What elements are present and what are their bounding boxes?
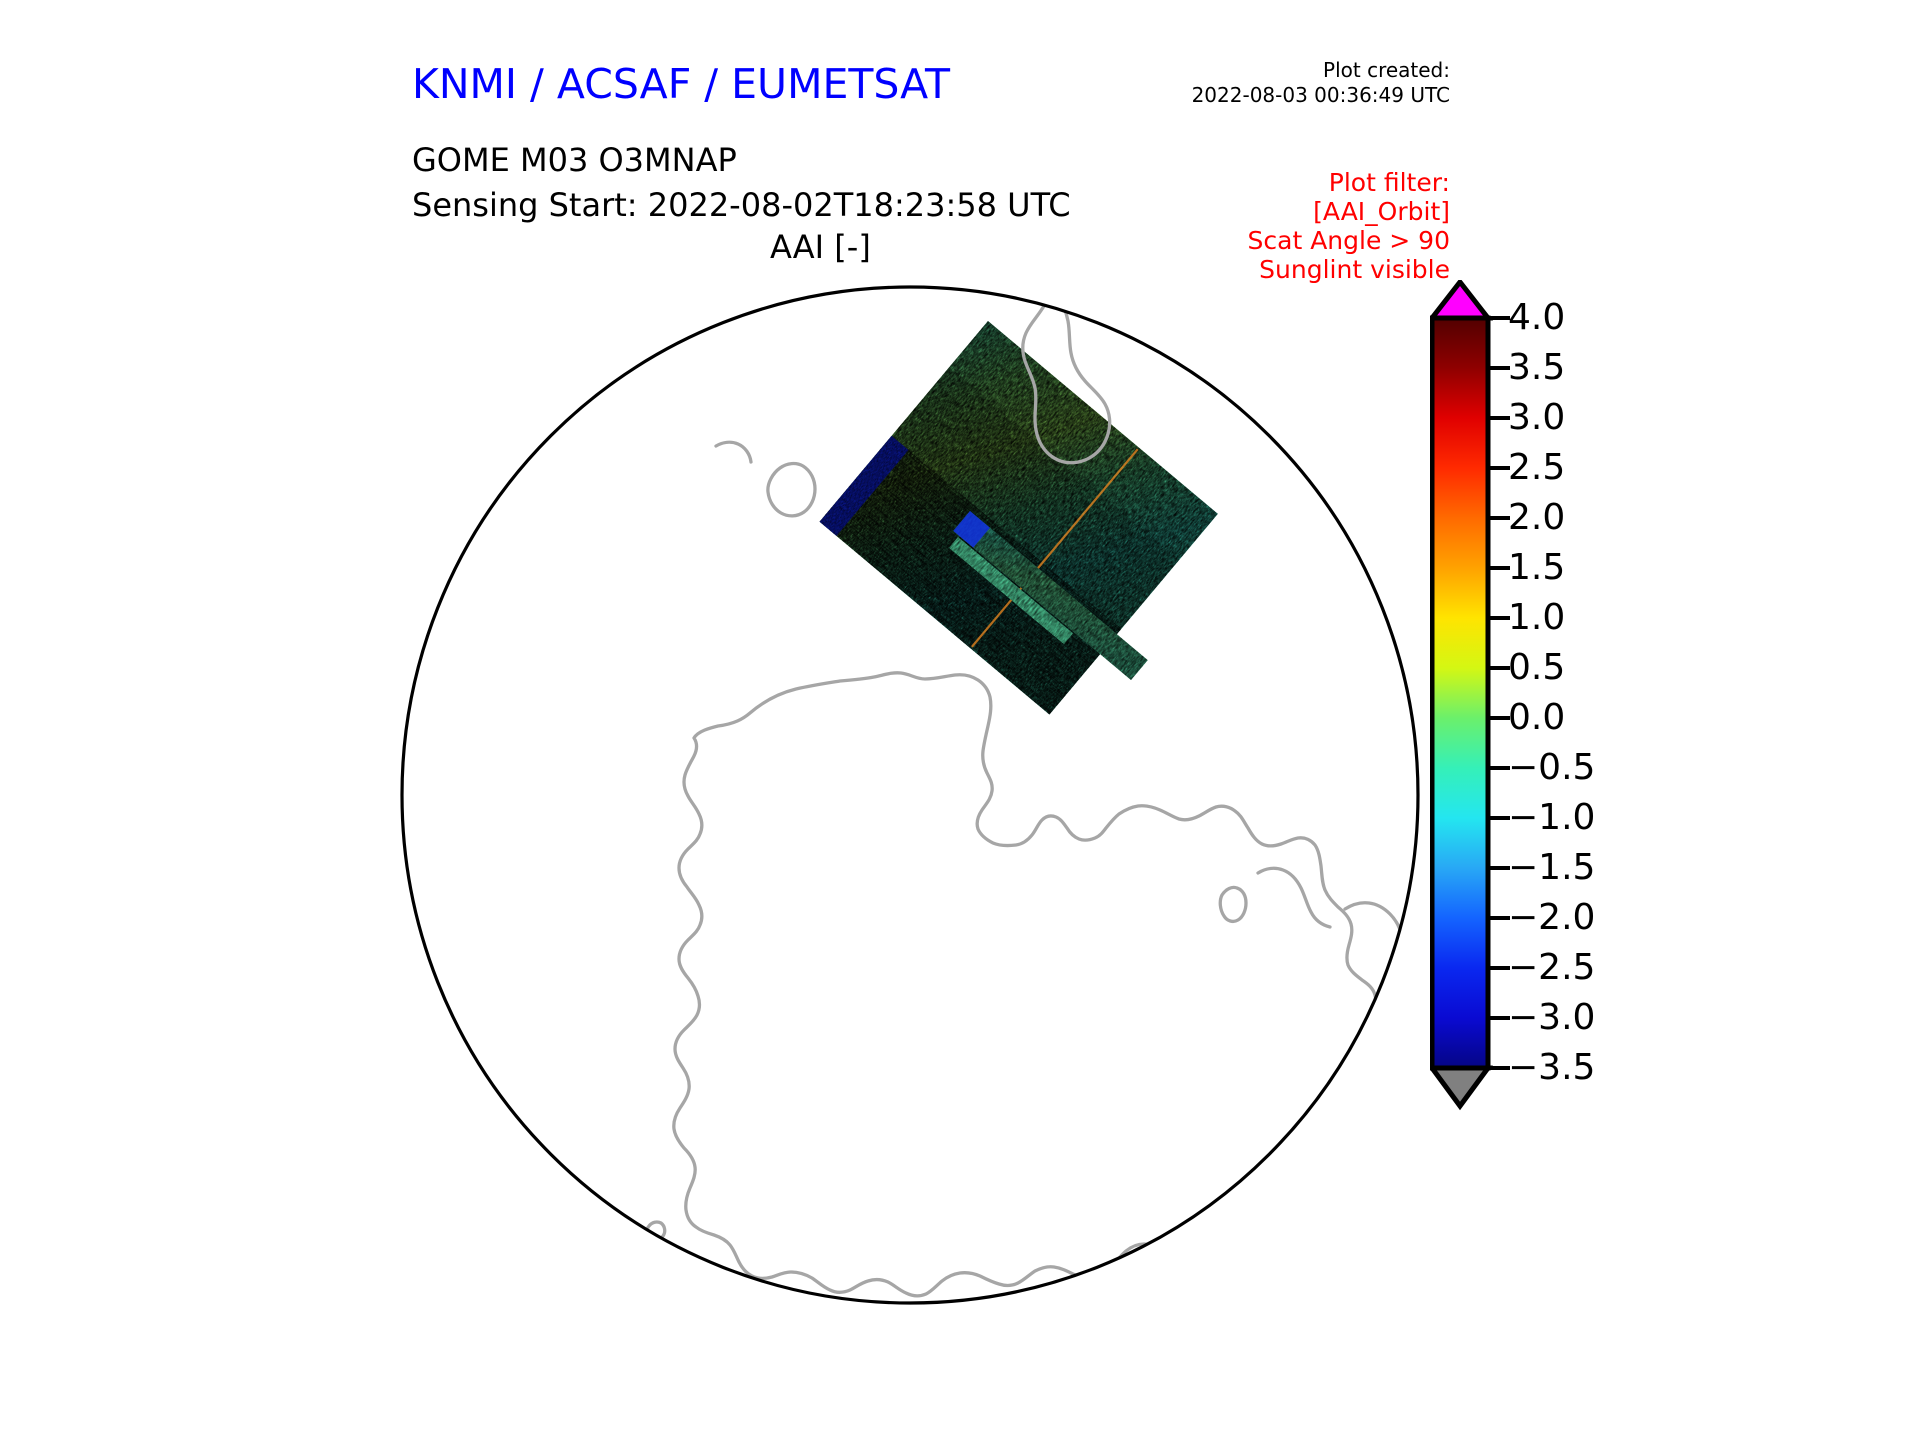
colorbar-tick-label: 4.0	[1508, 300, 1565, 336]
colorbar-tick-label: 1.0	[1508, 600, 1565, 636]
plot-filter-scat: Scat Angle > 90	[1090, 226, 1450, 255]
plot-filter-name: [AAI_Orbit]	[1090, 197, 1450, 226]
colorbar-tick-label: −3.0	[1508, 1000, 1595, 1036]
plot-page: KNMI / ACSAF / EUMETSAT Plot created: 20…	[0, 0, 1920, 1440]
colorbar-gradient	[1432, 318, 1488, 1068]
coastline-alexander-island	[1299, 1124, 1345, 1184]
coastline-small-island-a	[1337, 1108, 1356, 1126]
colorbar-over-arrow	[1432, 282, 1488, 318]
sensing-start-line: Sensing Start: 2022-08-02T18:23:58 UTC	[412, 183, 1071, 228]
colorbar-tick-label: −2.5	[1508, 950, 1595, 986]
dataset-meta-block: GOME M03 O3MNAP Sensing Start: 2022-08-0…	[412, 138, 1071, 228]
colorbar-tick-label: 0.5	[1508, 650, 1565, 686]
colorbar-tick-label: 1.5	[1508, 550, 1565, 586]
plot-filter-label: Plot filter:	[1090, 168, 1450, 197]
colorbar-tick-label: 2.5	[1508, 450, 1565, 486]
colorbar-tick-label: −1.0	[1508, 800, 1595, 836]
colorbar-tick-label: −2.0	[1508, 900, 1595, 936]
polar-map	[398, 283, 1422, 1307]
plot-axis-title: AAI [-]	[770, 228, 871, 266]
colorbar[interactable]: 4.03.53.02.52.01.51.00.50.0−0.5−1.0−1.5−…	[1430, 280, 1850, 1350]
organization-title: KNMI / ACSAF / EUMETSAT	[412, 60, 950, 108]
colorbar-tick-label: 0.0	[1508, 700, 1565, 736]
colorbar-ticks	[1488, 318, 1510, 1068]
plot-filter-glint: Sunglint visible	[1090, 255, 1450, 284]
colorbar-tick-labels: 4.03.53.02.52.01.51.00.50.0−0.5−1.0−1.5−…	[1508, 280, 1668, 1350]
plot-filter-block: Plot filter: [AAI_Orbit] Scat Angle > 90…	[1090, 168, 1450, 284]
colorbar-under-arrow	[1432, 1068, 1488, 1106]
colorbar-tick-label: 3.0	[1508, 400, 1565, 436]
plot-created-label: Plot created:	[1323, 58, 1450, 82]
colorbar-tick-label: −0.5	[1508, 750, 1595, 786]
plot-created-timestamp: 2022-08-03 00:36:49 UTC	[1150, 83, 1450, 108]
colorbar-tick-label: 2.0	[1508, 500, 1565, 536]
map-canvas	[398, 283, 1422, 1307]
colorbar-tick-label: −1.5	[1508, 850, 1595, 886]
plot-created-block: Plot created: 2022-08-03 00:36:49 UTC	[1150, 58, 1450, 108]
instrument-line: GOME M03 O3MNAP	[412, 138, 1071, 183]
colorbar-tick-label: −3.5	[1508, 1050, 1595, 1086]
colorbar-tick-label: 3.5	[1508, 350, 1565, 386]
